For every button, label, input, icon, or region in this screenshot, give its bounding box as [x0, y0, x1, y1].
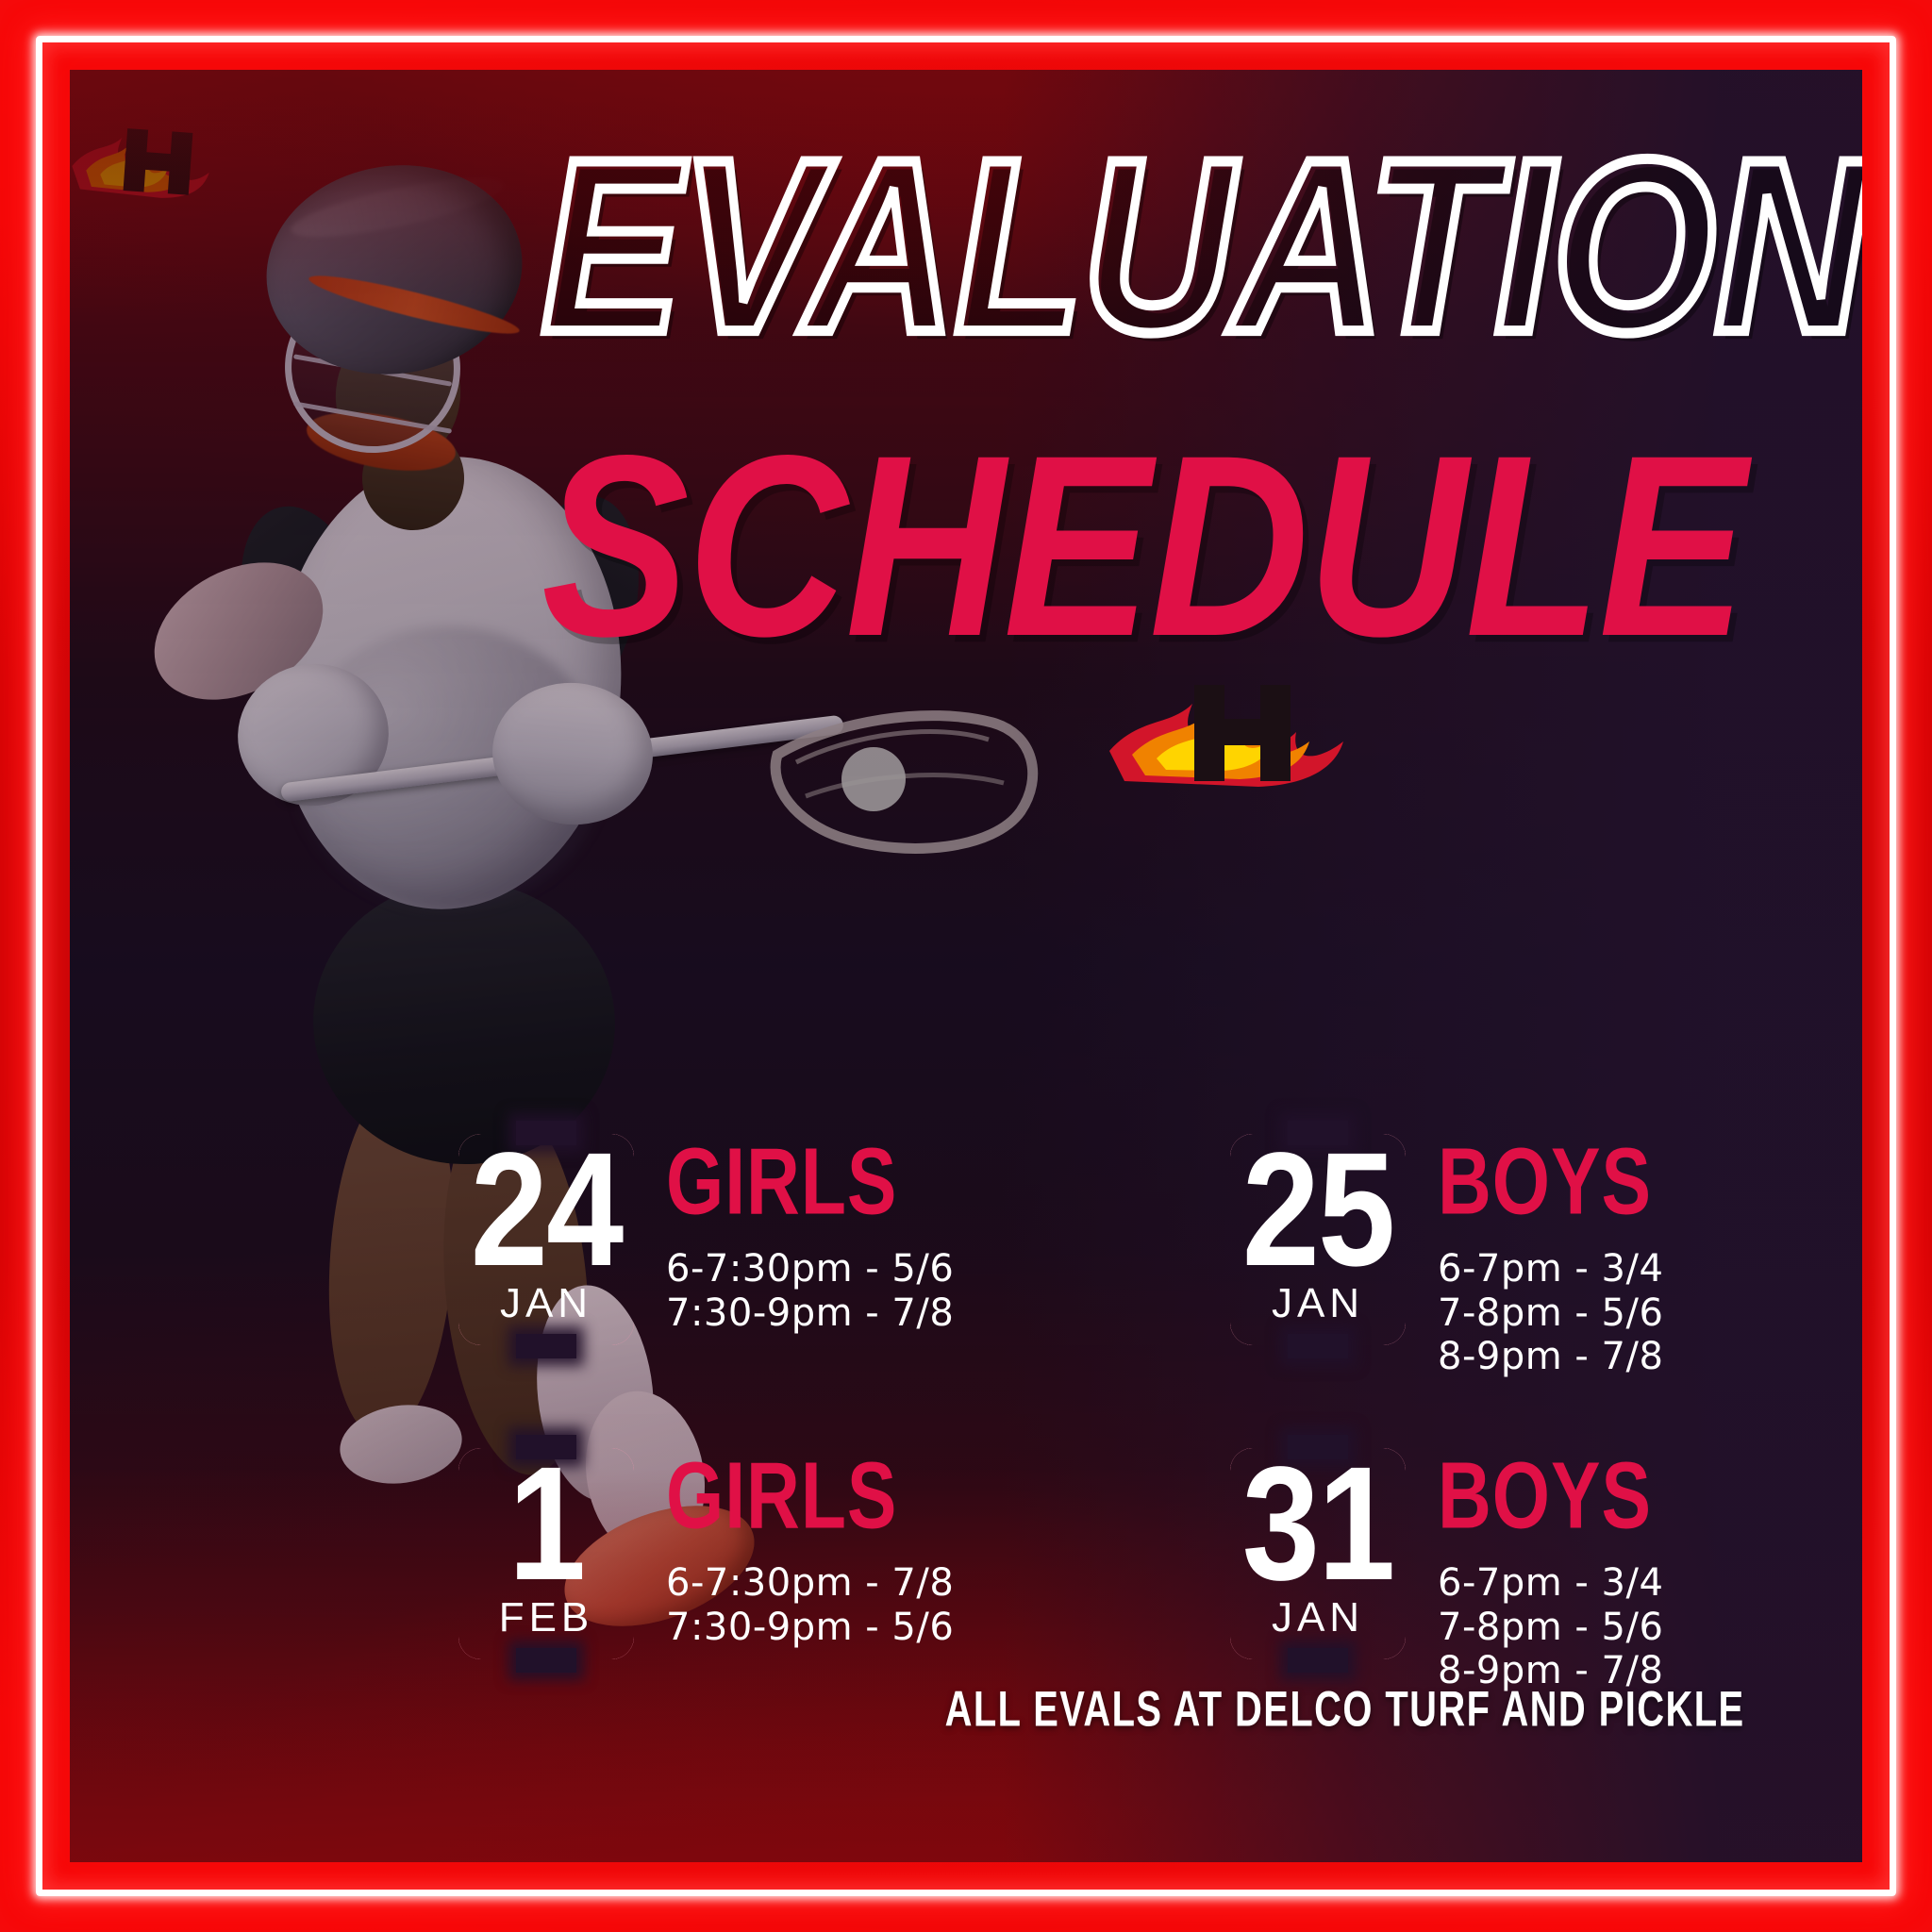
group-label: GIRLS: [666, 1452, 942, 1541]
date-month: JAN: [1272, 1597, 1364, 1639]
lacrosse-stick-head: [768, 664, 1051, 872]
date-box: 31 JAN: [1230, 1448, 1406, 1659]
date-day: 24: [471, 1139, 623, 1281]
card-info: GIRLS 6-7:30pm - 7/8 7:30-9pm - 5/6: [666, 1448, 954, 1650]
venue-note: ALL EVALS AT DELCO TURF AND PICKLE: [945, 1681, 1745, 1738]
time-row: 6-7:30pm - 5/6: [666, 1248, 954, 1291]
time-row: 6-7pm - 3/4: [1438, 1562, 1663, 1606]
schedule-card[interactable]: 25 JAN BOYS 6-7pm - 3/4 7-8pm - 5/6 8-9p…: [1230, 1134, 1862, 1395]
headline-schedule: SCHEDULE: [541, 431, 1862, 663]
schedule-grid: 24 JAN GIRLS 6-7:30pm - 5/6 7:30-9pm - 7…: [458, 1134, 1862, 1709]
neon-notch-bottom: [516, 1648, 576, 1673]
headline-block: EVALUATION SCHEDULE: [541, 134, 1824, 625]
card-info: BOYS 6-7pm - 3/4 7-8pm - 5/6 8-9pm - 7/8: [1438, 1134, 1663, 1380]
neon-notch-bottom: [1288, 1648, 1348, 1673]
time-row: 8-9pm - 7/8: [1438, 1336, 1663, 1379]
date-box: 25 JAN: [1230, 1134, 1406, 1345]
group-label: GIRLS: [666, 1138, 942, 1226]
time-row: 7:30-9pm - 7/8: [666, 1292, 954, 1336]
date-day: 1: [508, 1453, 584, 1595]
time-list: 6-7pm - 3/4 7-8pm - 5/6 8-9pm - 7/8: [1438, 1248, 1663, 1379]
date-day: 31: [1242, 1453, 1394, 1595]
time-list: 6-7:30pm - 7/8 7:30-9pm - 5/6: [666, 1562, 954, 1649]
time-row: 7:30-9pm - 5/6: [666, 1607, 954, 1650]
schedule-card[interactable]: 24 JAN GIRLS 6-7:30pm - 5/6 7:30-9pm - 7…: [458, 1134, 1121, 1395]
neon-notch-bottom: [516, 1334, 576, 1358]
schedule-card[interactable]: 31 JAN BOYS 6-7pm - 3/4 7-8pm - 5/6 8-9p…: [1230, 1448, 1862, 1709]
card-info: BOYS 6-7pm - 3/4 7-8pm - 5/6 8-9pm - 7/8: [1438, 1448, 1663, 1694]
schedule-card[interactable]: 1 FEB GIRLS 6-7:30pm - 7/8 7:30-9pm - 5/…: [458, 1448, 1121, 1709]
time-list: 6-7pm - 3/4 7-8pm - 5/6 8-9pm - 7/8: [1438, 1562, 1663, 1693]
group-label: BOYS: [1438, 1138, 1655, 1226]
neon-notch-bottom: [1288, 1334, 1348, 1358]
jersey-flame-h-logo: [70, 92, 234, 208]
date-day: 25: [1242, 1139, 1394, 1281]
date-month: FEB: [499, 1597, 594, 1639]
date-box: 1 FEB: [458, 1448, 634, 1659]
date-box: 24 JAN: [458, 1134, 634, 1345]
evaluation-schedule-poster: EVALUATION SCHEDULE 24 JAN: [0, 0, 1932, 1932]
time-list: 6-7:30pm - 5/6 7:30-9pm - 7/8: [666, 1248, 954, 1335]
time-row: 6-7pm - 3/4: [1438, 1248, 1663, 1291]
poster-stage: EVALUATION SCHEDULE 24 JAN: [70, 70, 1862, 1862]
date-month: JAN: [1272, 1283, 1364, 1324]
flaming-h-logo: [1108, 651, 1353, 792]
time-row: 7-8pm - 5/6: [1438, 1607, 1663, 1650]
date-month: JAN: [500, 1283, 592, 1324]
time-row: 7-8pm - 5/6: [1438, 1292, 1663, 1336]
card-info: GIRLS 6-7:30pm - 5/6 7:30-9pm - 7/8: [666, 1134, 954, 1336]
group-label: BOYS: [1438, 1452, 1655, 1541]
time-row: 6-7:30pm - 7/8: [666, 1562, 954, 1606]
headline-evaluation: EVALUATION: [541, 134, 1862, 360]
